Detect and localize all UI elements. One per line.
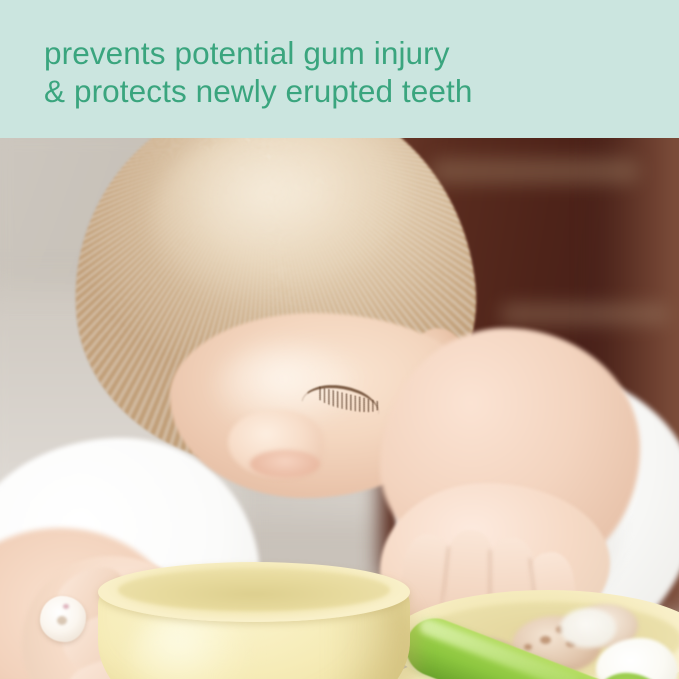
puffed-snack-speck	[63, 604, 69, 609]
puffed-snack-hole	[57, 616, 67, 625]
headline-banner: prevents potential gum injury & protects…	[0, 0, 679, 138]
food-crumb	[524, 644, 532, 650]
food-white-blob-back	[560, 608, 616, 648]
headline-line-2: & protects newly erupted teeth	[44, 72, 473, 110]
headline-line-1: prevents potential gum injury	[44, 34, 473, 72]
bowl-interior	[118, 569, 390, 611]
product-feature-banner: prevents potential gum injury & protects…	[0, 0, 679, 679]
baby-lips	[250, 450, 320, 478]
product-lifestyle-photo	[0, 138, 679, 679]
background-wood-slat-lower	[500, 303, 670, 325]
headline-text: prevents potential gum injury & protects…	[44, 34, 473, 110]
background-wood-slat-upper	[430, 158, 640, 184]
food-crumb	[540, 636, 551, 644]
